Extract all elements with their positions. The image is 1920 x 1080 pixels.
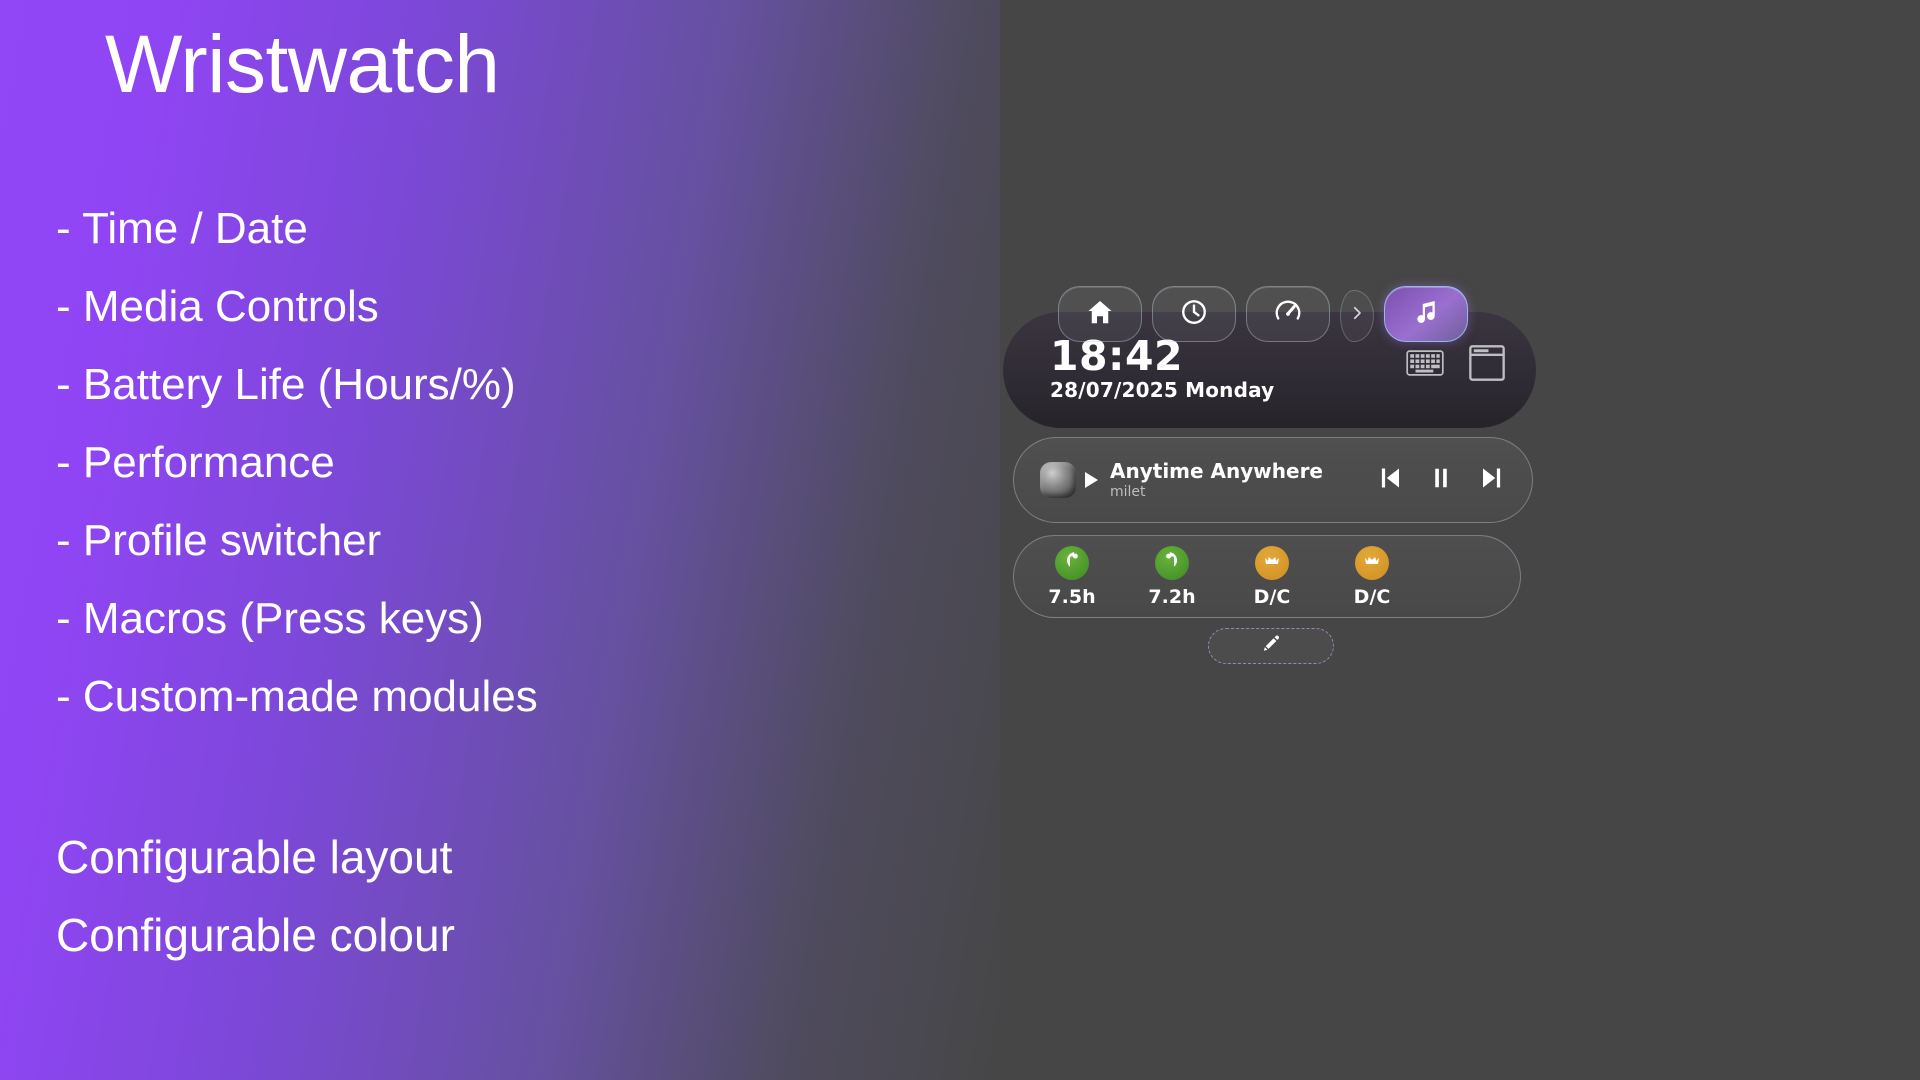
battery-label: D/C	[1254, 586, 1291, 608]
battery-panel: 7.5h 7.2h D/C D/C	[1013, 535, 1521, 618]
track-artist: milet	[1110, 484, 1323, 500]
device-status-dot	[1055, 546, 1089, 580]
track-title: Anytime Anywhere	[1110, 460, 1323, 483]
mouse-icon	[1062, 550, 1082, 575]
page-title: Wristwatch	[105, 22, 499, 108]
list-item: - Performance	[56, 424, 538, 502]
tab-more[interactable]	[1340, 286, 1374, 344]
tagline-line: Configurable colour	[56, 896, 455, 974]
headset-icon	[1362, 550, 1382, 575]
tab-home[interactable]	[1058, 286, 1142, 342]
wristwatch-widget: 18:42 28/07/2025 Monday	[1003, 286, 1658, 746]
battery-label: D/C	[1354, 586, 1391, 608]
list-item: - Time / Date	[56, 190, 538, 268]
edit-layout-button[interactable]	[1208, 628, 1334, 664]
list-item: - Profile switcher	[56, 502, 538, 580]
device-status-dot	[1155, 546, 1189, 580]
slide-text-pane: Wristwatch - Time / Date - Media Control…	[0, 0, 820, 1080]
feature-list: - Time / Date - Media Controls - Battery…	[56, 190, 538, 736]
clock-date: 28/07/2025 Monday	[1050, 378, 1274, 402]
battery-item[interactable]: D/C	[1348, 546, 1396, 608]
next-track-icon[interactable]	[1477, 463, 1507, 498]
battery-item[interactable]: 7.2h	[1148, 546, 1196, 608]
media-player-panel: Anytime Anywhere milet	[1013, 437, 1533, 523]
speedometer-icon	[1273, 297, 1303, 332]
pencil-icon	[1261, 634, 1281, 659]
mouse-icon	[1162, 550, 1182, 575]
tagline-line: Configurable layout	[56, 818, 455, 896]
media-controls	[1375, 463, 1507, 498]
pause-icon[interactable]	[1426, 463, 1456, 498]
clock-shortcuts	[1406, 344, 1506, 387]
window-icon[interactable]	[1468, 344, 1506, 387]
keyboard-icon[interactable]	[1406, 344, 1444, 387]
album-art	[1040, 462, 1076, 498]
battery-label: 7.2h	[1148, 586, 1195, 608]
list-item: - Battery Life (Hours/%)	[56, 346, 538, 424]
list-item: - Macros (Press keys)	[56, 580, 538, 658]
previous-track-icon[interactable]	[1375, 463, 1405, 498]
battery-item[interactable]: D/C	[1248, 546, 1296, 608]
tab-performance[interactable]	[1246, 286, 1330, 342]
battery-item[interactable]: 7.5h	[1048, 546, 1096, 608]
tab-clock[interactable]	[1152, 286, 1236, 342]
list-item: - Custom-made modules	[56, 658, 538, 736]
clock-icon	[1179, 297, 1209, 332]
device-status-dot	[1355, 546, 1389, 580]
headset-icon	[1262, 550, 1282, 575]
track-metadata: Anytime Anywhere milet	[1110, 460, 1323, 500]
device-status-dot	[1255, 546, 1289, 580]
home-icon	[1085, 297, 1115, 332]
music-note-icon	[1411, 297, 1441, 332]
tagline-block: Configurable layout Configurable colour	[56, 818, 455, 974]
play-icon	[1085, 472, 1098, 488]
list-item: - Media Controls	[56, 268, 538, 346]
battery-label: 7.5h	[1048, 586, 1095, 608]
tab-media[interactable]	[1384, 286, 1468, 342]
tab-strip	[1058, 286, 1468, 344]
